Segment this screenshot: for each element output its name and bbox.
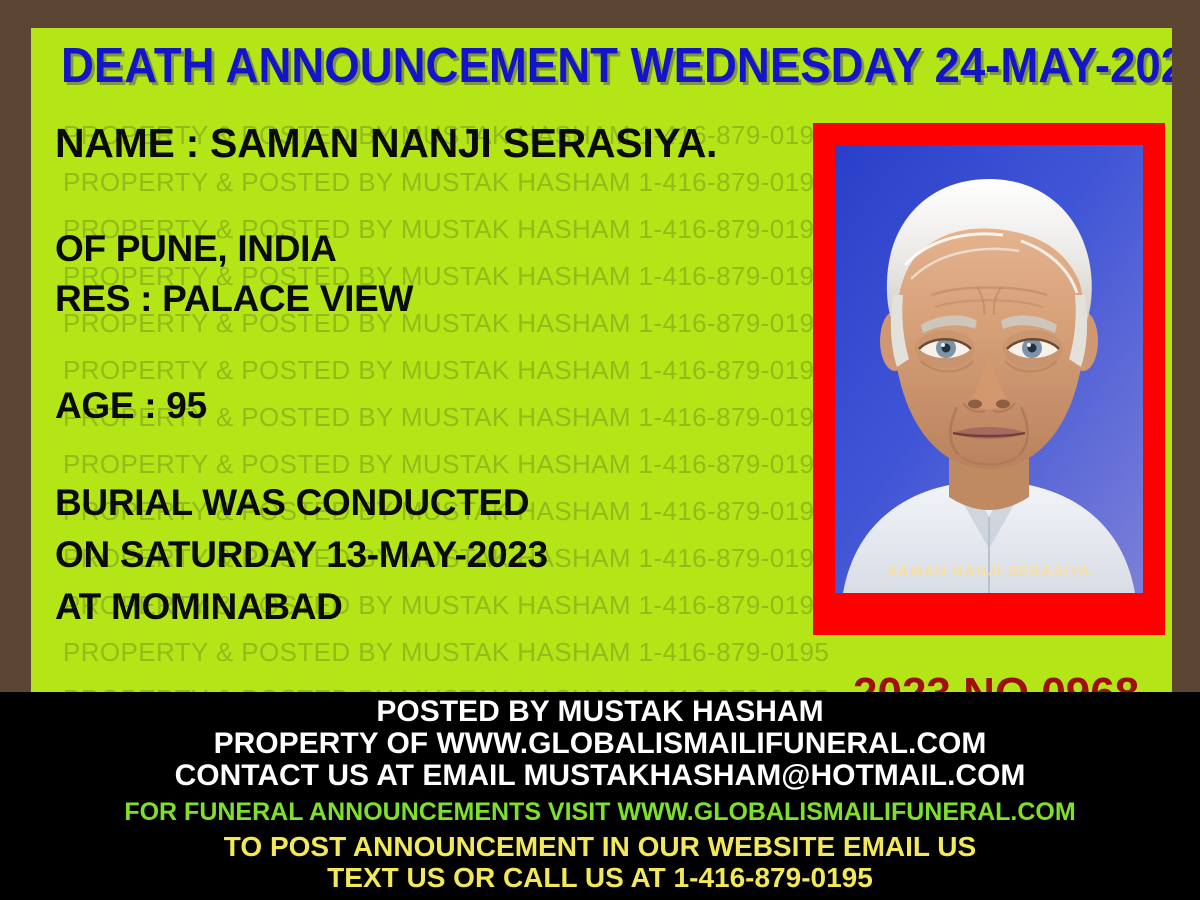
portrait-frame: SAMAN NANJI SERASIYA (813, 123, 1165, 635)
detail-burial-line-1: BURIAL WAS CONDUCTED (55, 482, 529, 524)
footer-line-contact: CONTACT US AT EMAIL MUSTAKHASHAM@HOTMAIL… (0, 759, 1200, 793)
footer-line-property-of: PROPERTY OF WWW.GLOBALISMAILIFUNERAL.COM (0, 727, 1200, 761)
detail-burial-line-2: ON SATURDAY 13-MAY-2023 (55, 534, 548, 576)
footer-line-posted-by: POSTED BY MUSTAK HASHAM (0, 695, 1200, 729)
page-title: DEATH ANNOUNCEMENT WEDNESDAY 24-MAY-2023 (61, 40, 1065, 92)
detail-place: OF PUNE, INDIA (55, 228, 337, 270)
footer-contact-block: POSTED BY MUSTAK HASHAM PROPERTY OF WWW.… (0, 692, 1200, 900)
detail-burial-line-3: AT MOMINABAD (55, 586, 343, 628)
watermark-row: PROPERTY & POSTED BY MUSTAK HASHAM 1-416… (63, 355, 829, 386)
footer-line-post: TO POST ANNOUNCEMENT IN OUR WEBSITE EMAI… (0, 831, 1200, 863)
footer-line-visit: FOR FUNERAL ANNOUNCEMENTS VISIT WWW.GLOB… (0, 798, 1200, 827)
footer-line-phone: TEXT US OR CALL US AT 1-416-879-0195 (0, 862, 1200, 894)
watermark-row: PROPERTY & POSTED BY MUSTAK HASHAM 1-416… (63, 167, 829, 198)
portrait-illustration (835, 145, 1143, 593)
reference-number: 2023 NO.0968 (853, 669, 1139, 692)
watermark-row: PROPERTY & POSTED BY MUSTAK HASHAM 1-416… (63, 449, 829, 480)
death-announcement-poster: PROPERTY & POSTED BY MUSTAK HASHAM 1-416… (0, 0, 1200, 900)
detail-name: NAME : SAMAN NANJI SERASIYA. (55, 120, 717, 167)
portrait-caption: SAMAN NANJI SERASIYA (835, 551, 1143, 593)
detail-residence: RES : PALACE VIEW (55, 278, 413, 320)
watermark-row: PROPERTY & POSTED BY MUSTAK HASHAM 1-416… (63, 637, 829, 668)
detail-age: AGE : 95 (55, 385, 207, 427)
watermark-row: PROPERTY & POSTED BY MUSTAK HASHAM 1-416… (63, 684, 829, 692)
portrait-photo: SAMAN NANJI SERASIYA (835, 145, 1143, 593)
